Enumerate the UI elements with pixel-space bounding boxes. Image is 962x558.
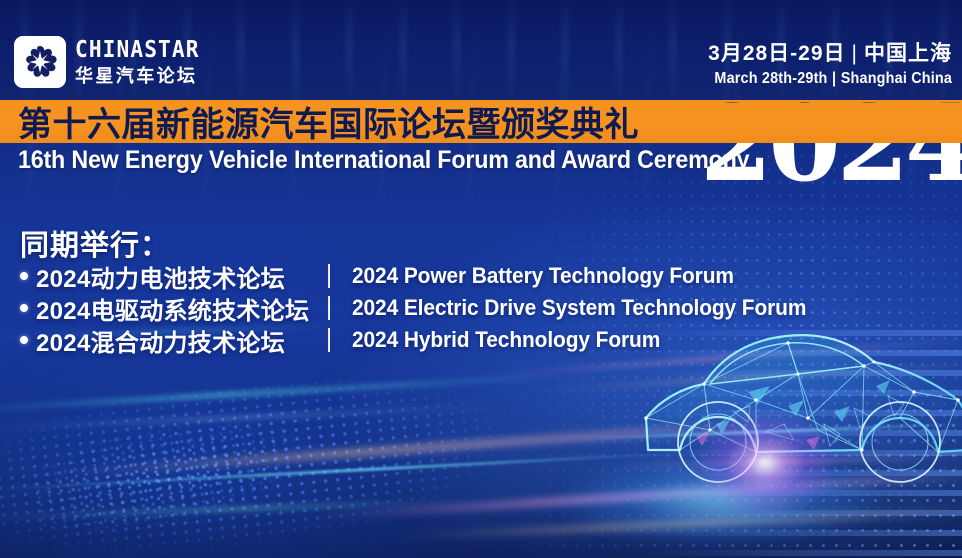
divider [328, 328, 330, 352]
date-separator-cn: | [846, 42, 864, 65]
concurrent-forum-list: 2024动力电池技术论坛 2024 Power Battery Technolo… [20, 262, 830, 354]
divider [328, 264, 330, 288]
event-date-location: 3月28日-29日|中国上海 March 28th-29th|Shanghai … [688, 42, 952, 88]
list-item[interactable]: 2024电驱动系统技术论坛 2024 Electric Drive System… [20, 294, 830, 322]
event-banner: CHINASTAR 华星汽车论坛 3月28日-29日|中国上海 March 28… [0, 0, 962, 558]
divider [328, 296, 330, 320]
forum-name-cn: 2024动力电池技术论坛 [36, 259, 328, 294]
headlight-glow [690, 408, 840, 518]
page-title-cn: 第十六届新能源汽车国际论坛暨颁奖典礼 [18, 100, 639, 143]
event-location-cn: 中国上海 [864, 42, 952, 65]
forum-name-cn: 2024混合动力技术论坛 [36, 323, 328, 358]
bullet-icon [20, 336, 28, 344]
event-date-en: March 28th-29th [714, 70, 827, 87]
page-title-en: 16th New Energy Vehicle International Fo… [18, 146, 749, 175]
event-location-en: Shanghai China [841, 70, 952, 87]
event-date-en-line: March 28th-29th|Shanghai China [714, 70, 952, 88]
list-item[interactable]: 2024动力电池技术论坛 2024 Power Battery Technolo… [20, 262, 830, 290]
forum-name-cn: 2024电驱动系统技术论坛 [36, 291, 328, 326]
brand-name-cn: 华星汽车论坛 [75, 67, 210, 85]
date-separator-en: | [827, 70, 840, 87]
forum-name-en: 2024 Hybrid Technology Forum [352, 327, 660, 353]
brand-name-en: CHINASTAR [75, 39, 200, 62]
forum-name-en: 2024 Electric Drive System Technology Fo… [352, 295, 806, 321]
event-date-cn: 3月28日-29日 [708, 42, 845, 65]
bullet-icon [20, 272, 28, 280]
brand-logo[interactable]: CHINASTAR 华星汽车论坛 [14, 36, 210, 88]
list-item[interactable]: 2024混合动力技术论坛 2024 Hybrid Technology Foru… [20, 326, 830, 354]
bullet-icon [20, 304, 28, 312]
brand-logo-text: CHINASTAR 华星汽车论坛 [75, 39, 210, 85]
star-burst-icon [14, 36, 66, 88]
forum-name-en: 2024 Power Battery Technology Forum [352, 263, 734, 289]
event-date-cn-line: 3月28日-29日|中国上海 [688, 42, 952, 66]
